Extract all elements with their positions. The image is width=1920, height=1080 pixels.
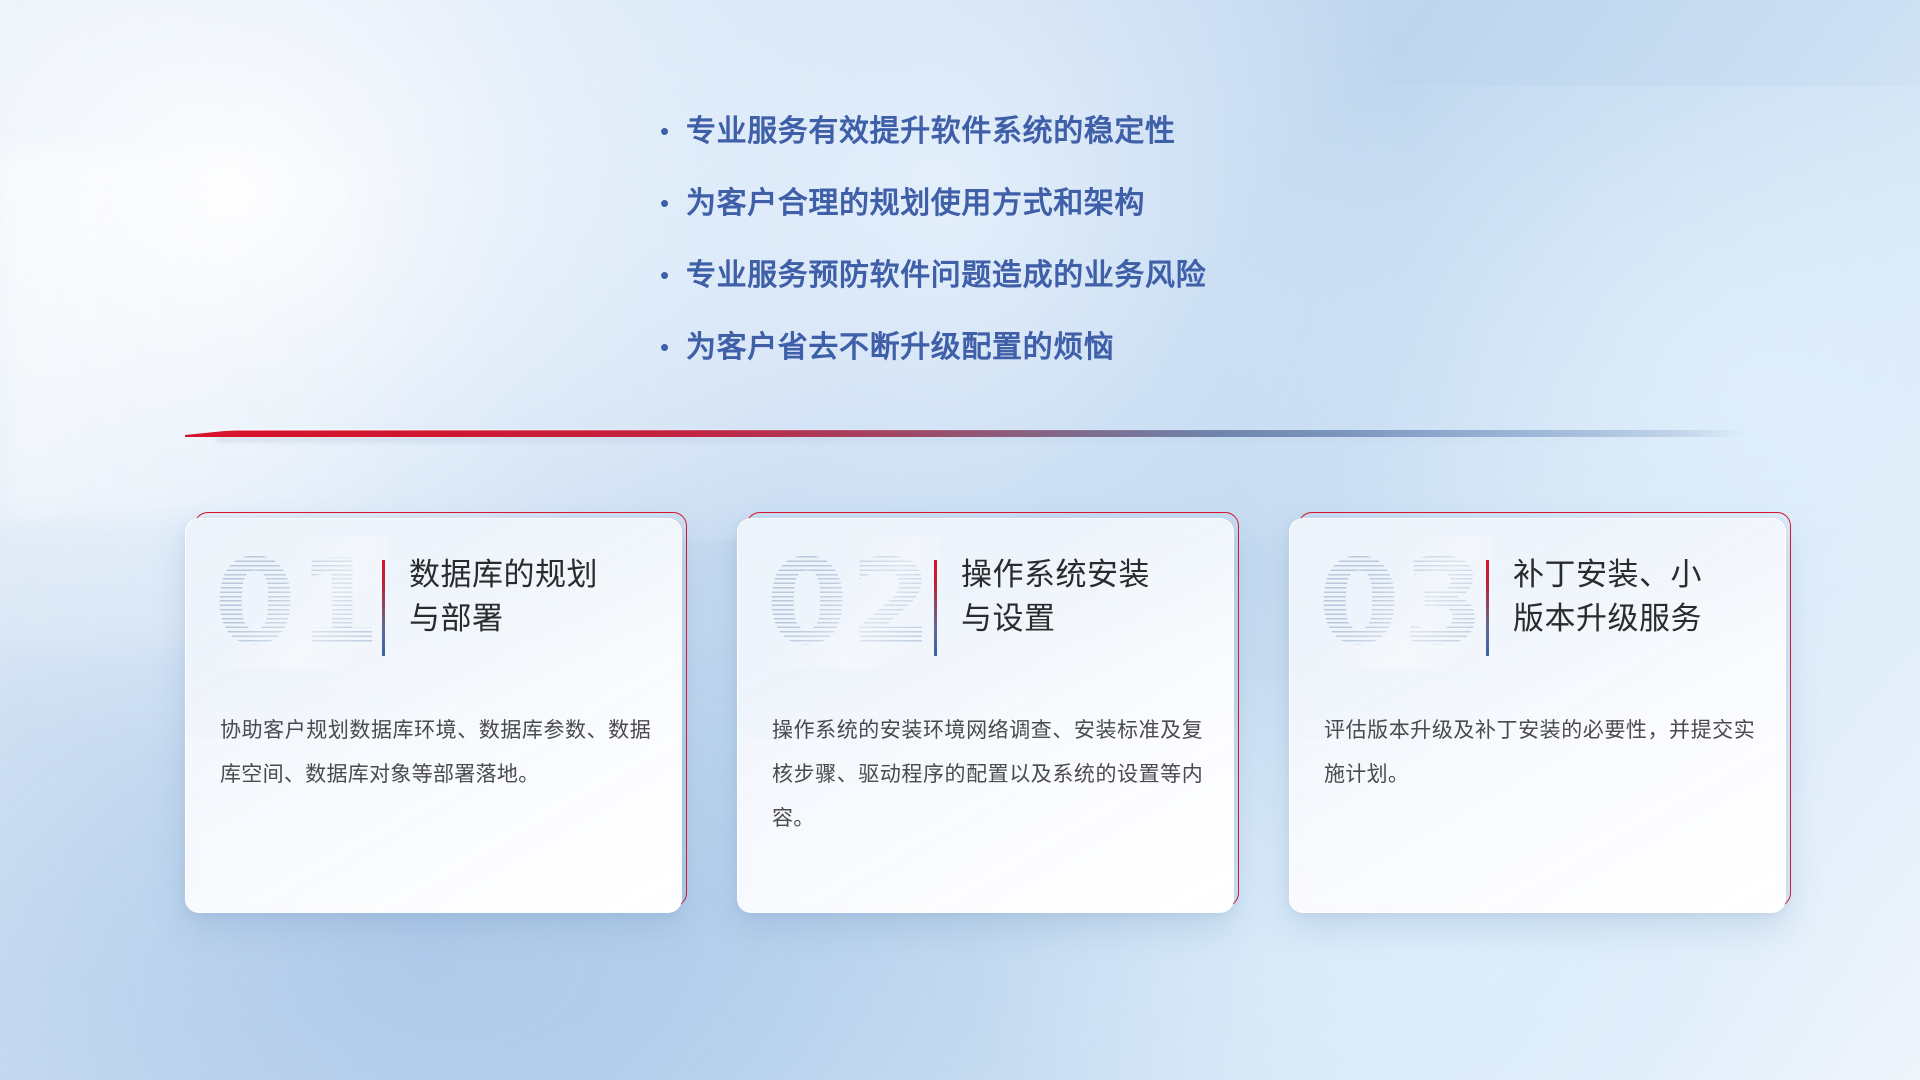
card-header: 补丁安装、小版本升级服务: [1486, 553, 1759, 656]
list-item: • 为客户合理的规划使用方式和架构: [660, 184, 1420, 224]
card-header: 数据库的规划与部署: [382, 553, 655, 656]
bullet-dot-icon: •: [660, 255, 686, 295]
divider-highlight: [185, 429, 1745, 431]
list-item: • 为客户省去不断升级配置的烦恼: [660, 328, 1420, 368]
card-surface: 03 补丁安装、小版本升级服务 评估版本升级及补丁安装的必要性，并提交实施计划。: [1289, 518, 1786, 913]
card-description: 协助客户规划数据库环境、数据库参数、数据库空间、数据库对象等部署落地。: [220, 709, 651, 797]
card-surface: 01 数据库的规划与部署 协助客户规划数据库环境、数据库参数、数据库空间、数据库…: [185, 518, 682, 913]
divider-line: [185, 430, 1745, 437]
service-card[interactable]: 03 补丁安装、小版本升级服务 评估版本升级及补丁安装的必要性，并提交实施计划。: [1289, 518, 1786, 913]
bullet-dot-icon: •: [660, 327, 686, 367]
card-title: 数据库的规划与部署: [409, 553, 598, 641]
card-title-rule: [1486, 560, 1489, 656]
card-header: 操作系统安装与设置: [934, 553, 1207, 656]
bullet-dot-icon: •: [660, 111, 686, 151]
card-number-watermark: 02: [766, 543, 934, 661]
bullet-text: 专业服务有效提升软件系统的稳定性: [686, 112, 1176, 152]
benefits-list: • 专业服务有效提升软件系统的稳定性 • 为客户合理的规划使用方式和架构 • 专…: [660, 112, 1420, 400]
card-title: 补丁安装、小版本升级服务: [1513, 553, 1702, 641]
card-description: 评估版本升级及补丁安装的必要性，并提交实施计划。: [1324, 709, 1755, 797]
bullet-text: 专业服务预防软件问题造成的业务风险: [686, 256, 1206, 296]
divider-shadow: [216, 437, 1714, 442]
card-description: 操作系统的安装环境网络调查、安装标准及复核步骤、驱动程序的配置以及系统的设置等内…: [772, 709, 1203, 841]
list-item: • 专业服务有效提升软件系统的稳定性: [660, 112, 1420, 152]
card-number-watermark: 03: [1318, 543, 1486, 661]
service-card[interactable]: 02 操作系统安装与设置 操作系统的安装环境网络调查、安装标准及复核步骤、驱动程…: [737, 518, 1234, 913]
service-card-list: 01 数据库的规划与部署 协助客户规划数据库环境、数据库参数、数据库空间、数据库…: [185, 518, 1786, 913]
bullet-dot-icon: •: [660, 183, 686, 223]
bullet-text: 为客户省去不断升级配置的烦恼: [686, 328, 1114, 368]
list-item: • 专业服务预防软件问题造成的业务风险: [660, 256, 1420, 296]
card-title-rule: [934, 560, 937, 656]
card-surface: 02 操作系统安装与设置 操作系统的安装环境网络调查、安装标准及复核步骤、驱动程…: [737, 518, 1234, 913]
section-divider: [185, 424, 1745, 446]
service-card[interactable]: 01 数据库的规划与部署 协助客户规划数据库环境、数据库参数、数据库空间、数据库…: [185, 518, 682, 913]
card-title: 操作系统安装与设置: [961, 553, 1150, 641]
card-title-rule: [382, 560, 385, 656]
card-number-watermark: 01: [214, 543, 382, 661]
bullet-text: 为客户合理的规划使用方式和架构: [686, 184, 1145, 224]
